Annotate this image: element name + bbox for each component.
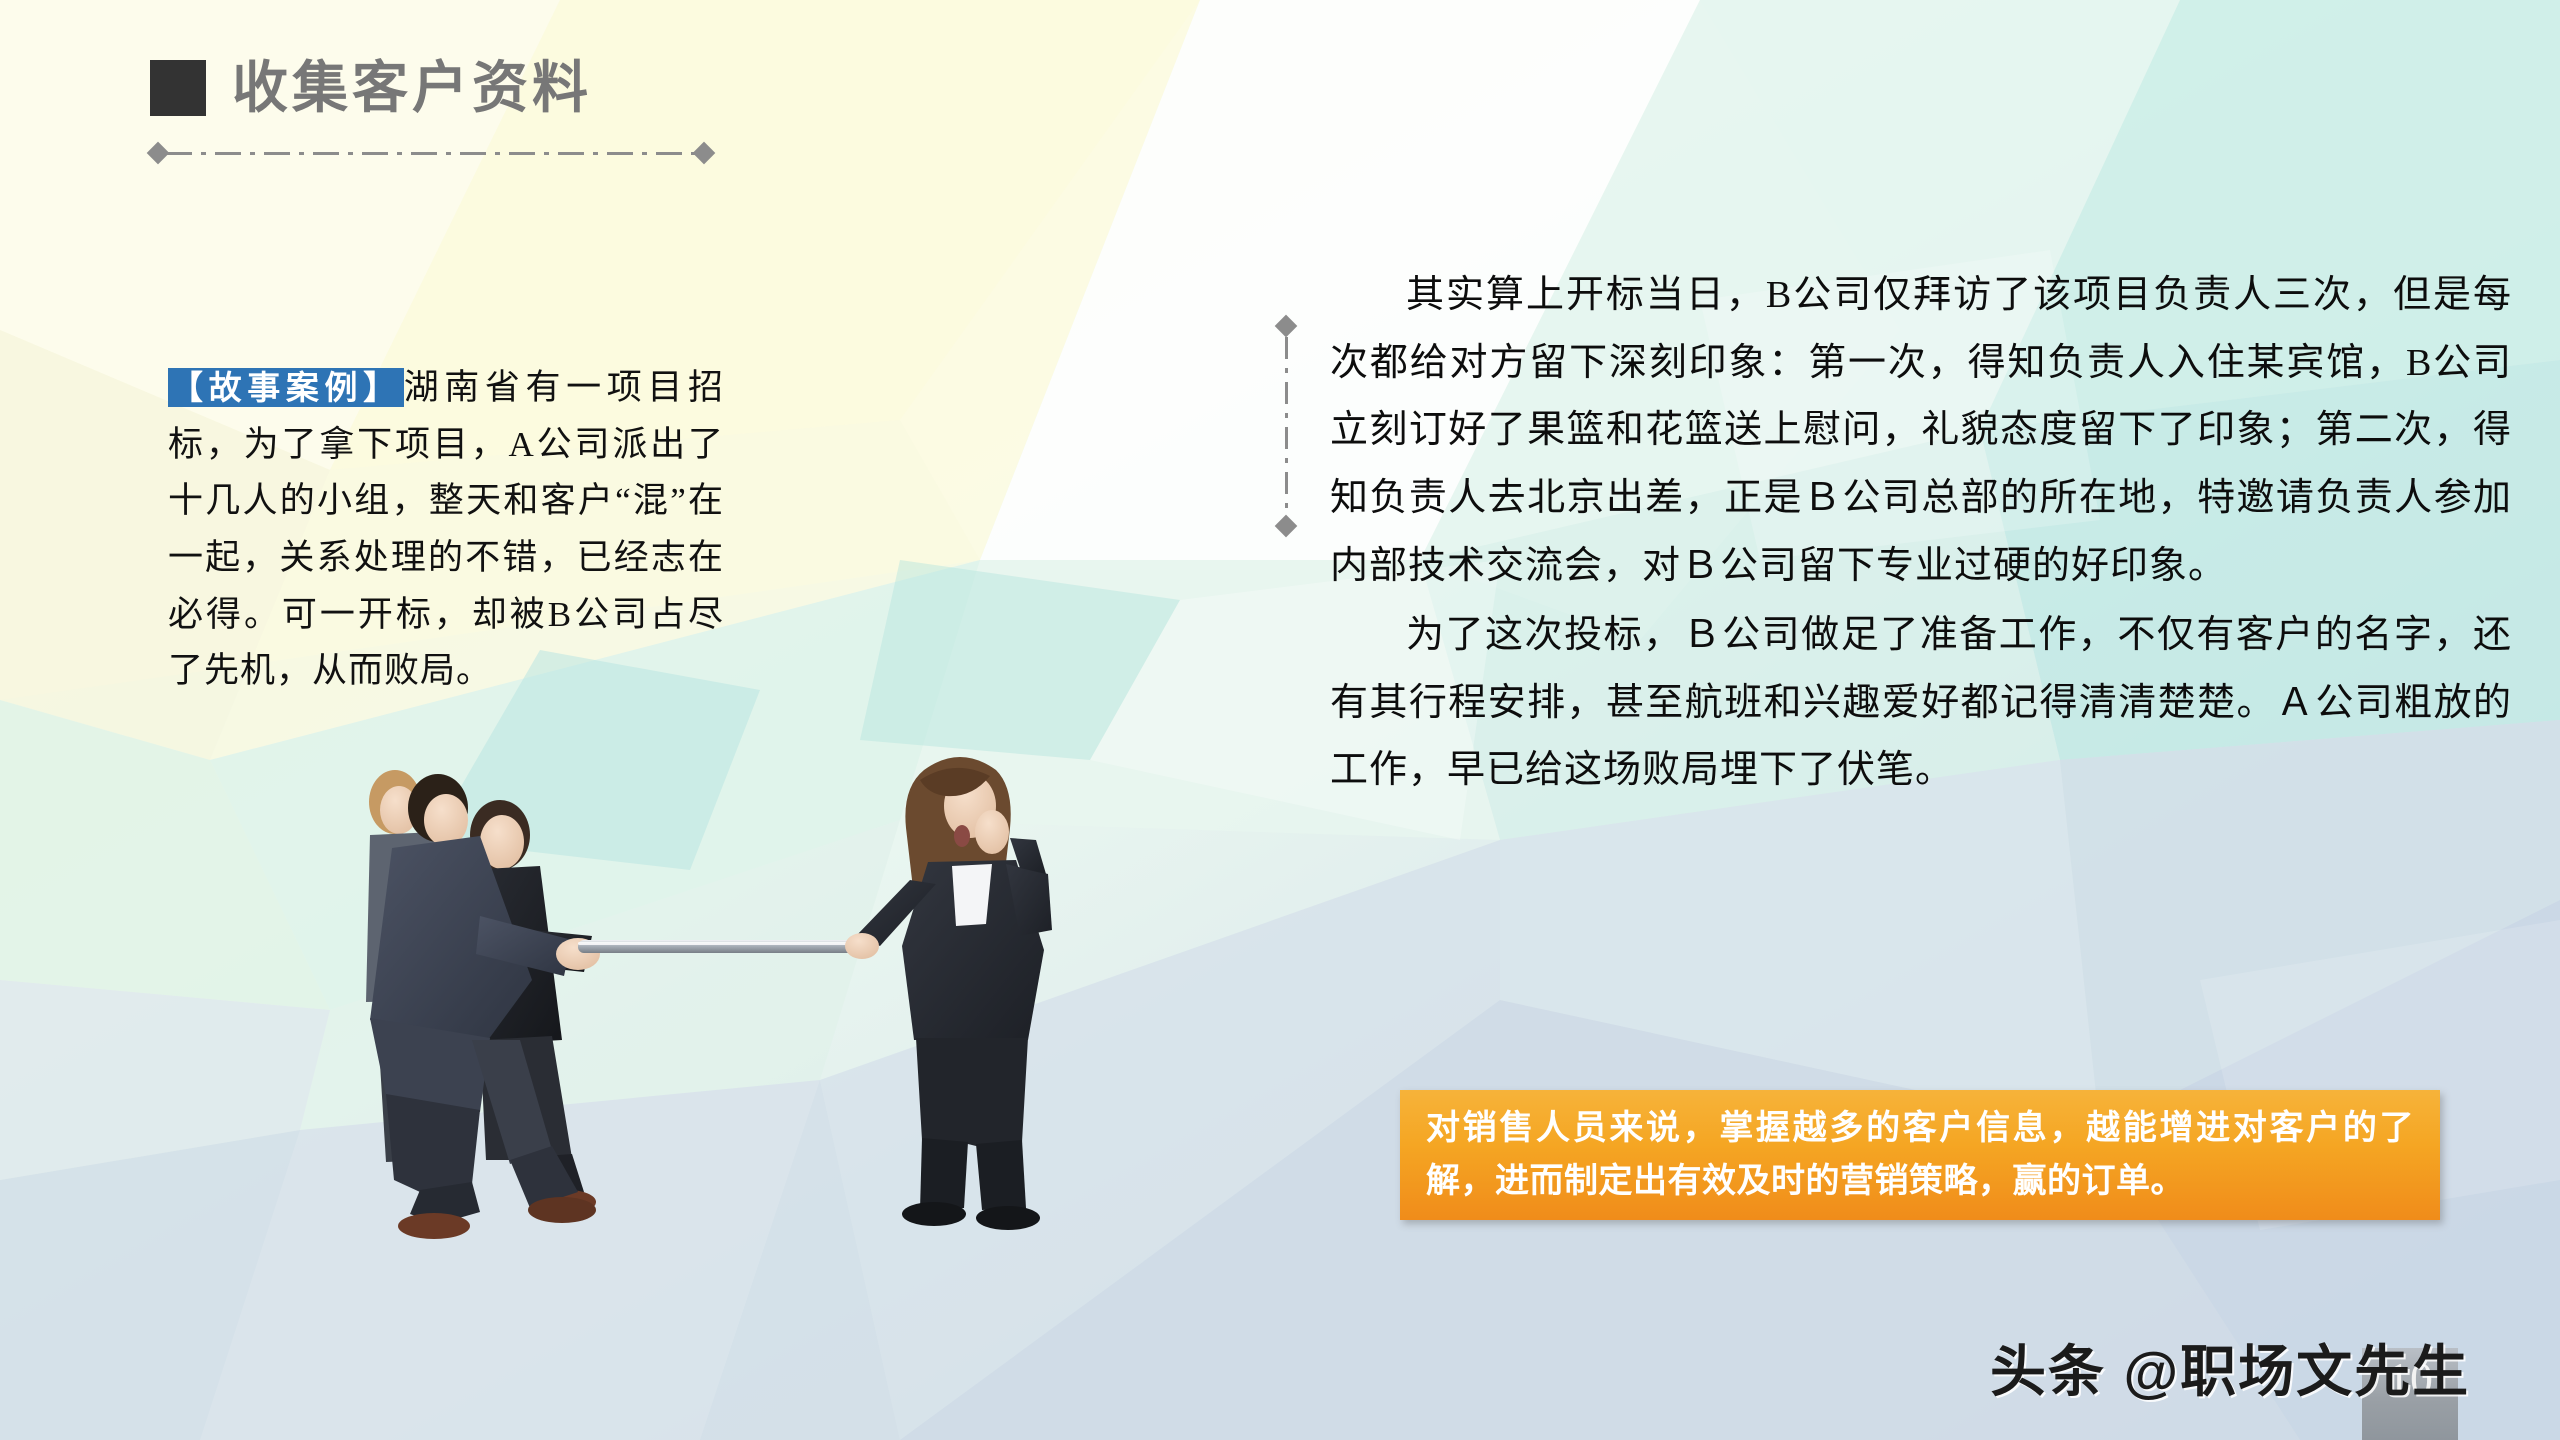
presentation-slide: 收集客户资料 【故事案例】湖南省有一项目招标，为了拿下项目，A公司派出了十几人的… <box>0 0 2560 1440</box>
dash-dot-line <box>166 152 696 155</box>
title-square-marker <box>150 60 206 116</box>
watermark-label: 头条 @职场文先生 <box>1990 1327 2470 1408</box>
diamond-right-icon <box>693 142 716 165</box>
diamond-left-icon <box>147 142 170 165</box>
page-title: 收集客户资料 <box>150 60 592 116</box>
diamond-top-icon <box>1275 315 1298 338</box>
right-paragraph-1: 其实算上开标当日，B公司仅拜访了该项目负责人三次，但是每次都给对方留下深刻印象：… <box>1330 262 2512 600</box>
right-story-text: 其实算上开标当日，B公司仅拜访了该项目负责人三次，但是每次都给对方留下深刻印象：… <box>1330 262 2512 805</box>
divider-vertical <box>1278 318 1294 534</box>
title-label: 收集客户资料 <box>232 60 592 116</box>
divider-horizontal <box>150 145 712 161</box>
diamond-bottom-icon <box>1275 515 1298 538</box>
people-illustration <box>180 740 1240 1250</box>
left-story-text: 【故事案例】湖南省有一项目招标，为了拿下项目，A公司派出了十几人的小组，整天和客… <box>168 360 724 700</box>
callout-text: 对销售人员来说，掌握越多的客户信息，越能增进对客户的了解，进而制定出有效及时的营… <box>1426 1102 2414 1207</box>
story-case-tag: 【故事案例】 <box>168 368 404 407</box>
dash-dot-line-vertical <box>1285 337 1288 515</box>
tug-of-war-photo <box>180 740 1240 1250</box>
left-story-body: 湖南省有一项目招标，为了拿下项目，A公司派出了十几人的小组，整天和客户“混”在一… <box>168 368 724 690</box>
right-paragraph-2: 为了这次投标，Ｂ公司做足了准备工作，不仅有客户的名字，还有其行程安排，甚至航班和… <box>1330 602 2512 805</box>
key-message-callout: 对销售人员来说，掌握越多的客户信息，越能增进对客户的了解，进而制定出有效及时的营… <box>1400 1090 2440 1220</box>
